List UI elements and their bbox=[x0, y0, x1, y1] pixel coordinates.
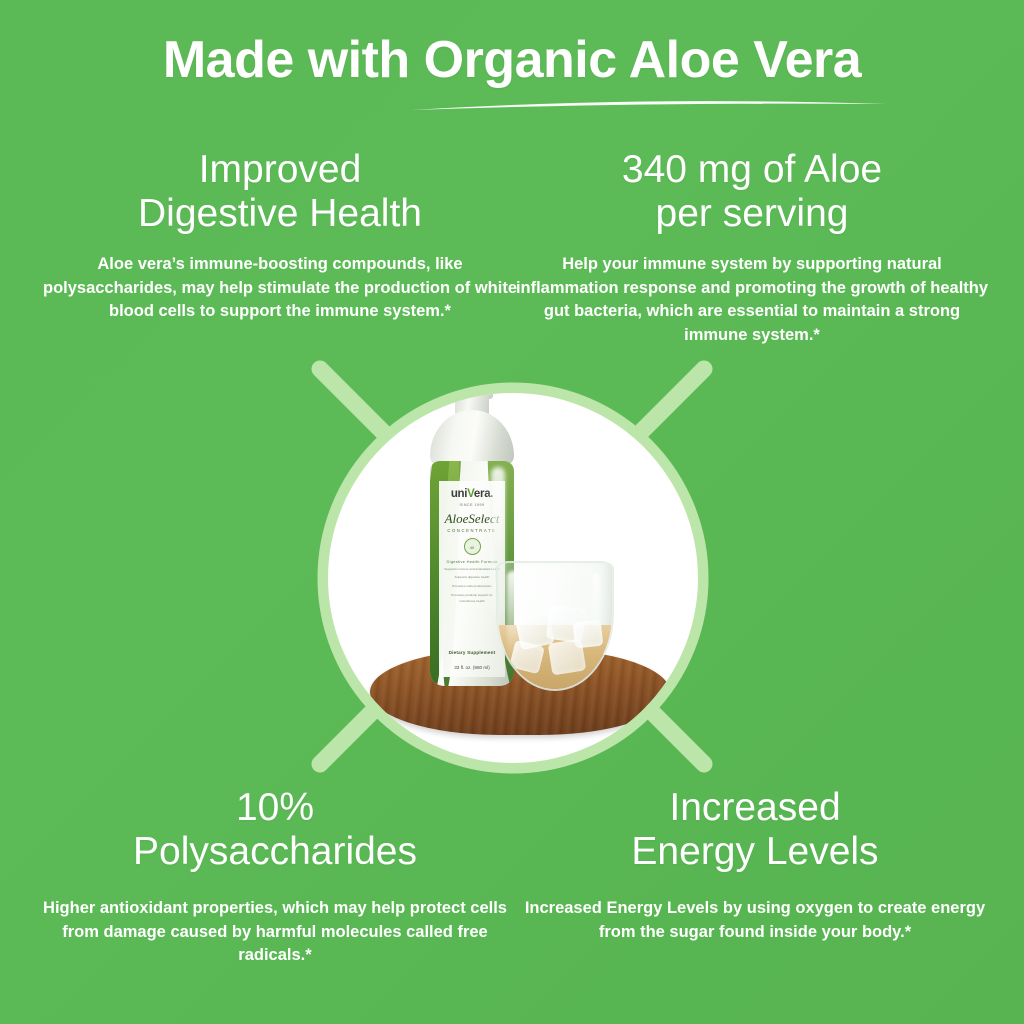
benefit-block-aloe-dosage: 340 mg of Aloe per serving Help your imm… bbox=[512, 148, 992, 347]
title-block: Made with Organic Aloe Vera bbox=[0, 33, 1024, 88]
brand-leaf-v-icon: V bbox=[467, 488, 474, 500]
title-underline-swoosh bbox=[0, 88, 1024, 116]
net-volume-text: 33 fl. oz. (980 ml) bbox=[439, 665, 505, 670]
benefit-heading: 10% Polysaccharides bbox=[30, 786, 520, 873]
glass-highlight bbox=[592, 573, 600, 643]
benefit-body-text: Aloe vera’s immune-boosting compounds, l… bbox=[40, 253, 520, 323]
product-photo: uniVera. SINCE 1999 AloeSelect CONCENTRA… bbox=[328, 393, 698, 763]
ice-cube bbox=[548, 639, 587, 676]
glass-highlight bbox=[507, 571, 519, 657]
benefit-block-digestive-health: Improved Digestive Health Aloe vera’s im… bbox=[40, 148, 520, 324]
benefit-heading-line: Improved bbox=[40, 148, 520, 192]
benefit-heading-line: Digestive Health bbox=[40, 192, 520, 236]
benefit-heading-line: Energy Levels bbox=[520, 830, 990, 874]
benefit-heading: Improved Digestive Health bbox=[40, 148, 520, 235]
infographic-page: Made with Organic Aloe Vera bbox=[0, 0, 1024, 1024]
dietary-supplement-text: Dietary Supplement bbox=[439, 650, 505, 655]
benefit-heading-line: 10% bbox=[30, 786, 520, 830]
label-seal-badge: 40 bbox=[464, 538, 481, 555]
benefit-heading-line: per serving bbox=[512, 192, 992, 236]
product-name-aloe: Aloe bbox=[445, 511, 469, 526]
benefit-heading-line: Increased bbox=[520, 786, 990, 830]
benefit-heading-line: 340 mg of Aloe bbox=[512, 148, 992, 192]
benefit-body-text: Higher antioxidant properties, which may… bbox=[30, 897, 520, 967]
benefit-heading: 340 mg of Aloe per serving bbox=[512, 148, 992, 235]
page-title: Made with Organic Aloe Vera bbox=[0, 33, 1024, 88]
benefit-block-polysaccharides: 10% Polysaccharides Higher antioxidant p… bbox=[30, 786, 520, 968]
brand-name-prefix: uni bbox=[451, 488, 467, 500]
bottle-shoulder bbox=[430, 410, 514, 468]
benefit-heading: Increased Energy Levels bbox=[520, 786, 990, 873]
benefit-body-text: Increased Energy Levels by using oxygen … bbox=[520, 897, 990, 944]
benefit-body-text: Help your immune system by supporting na… bbox=[512, 253, 992, 347]
drinking-glass bbox=[496, 561, 614, 691]
benefit-heading-line: Polysaccharides bbox=[30, 830, 520, 874]
benefit-block-energy-levels: Increased Energy Levels Increased Energy… bbox=[520, 786, 990, 944]
